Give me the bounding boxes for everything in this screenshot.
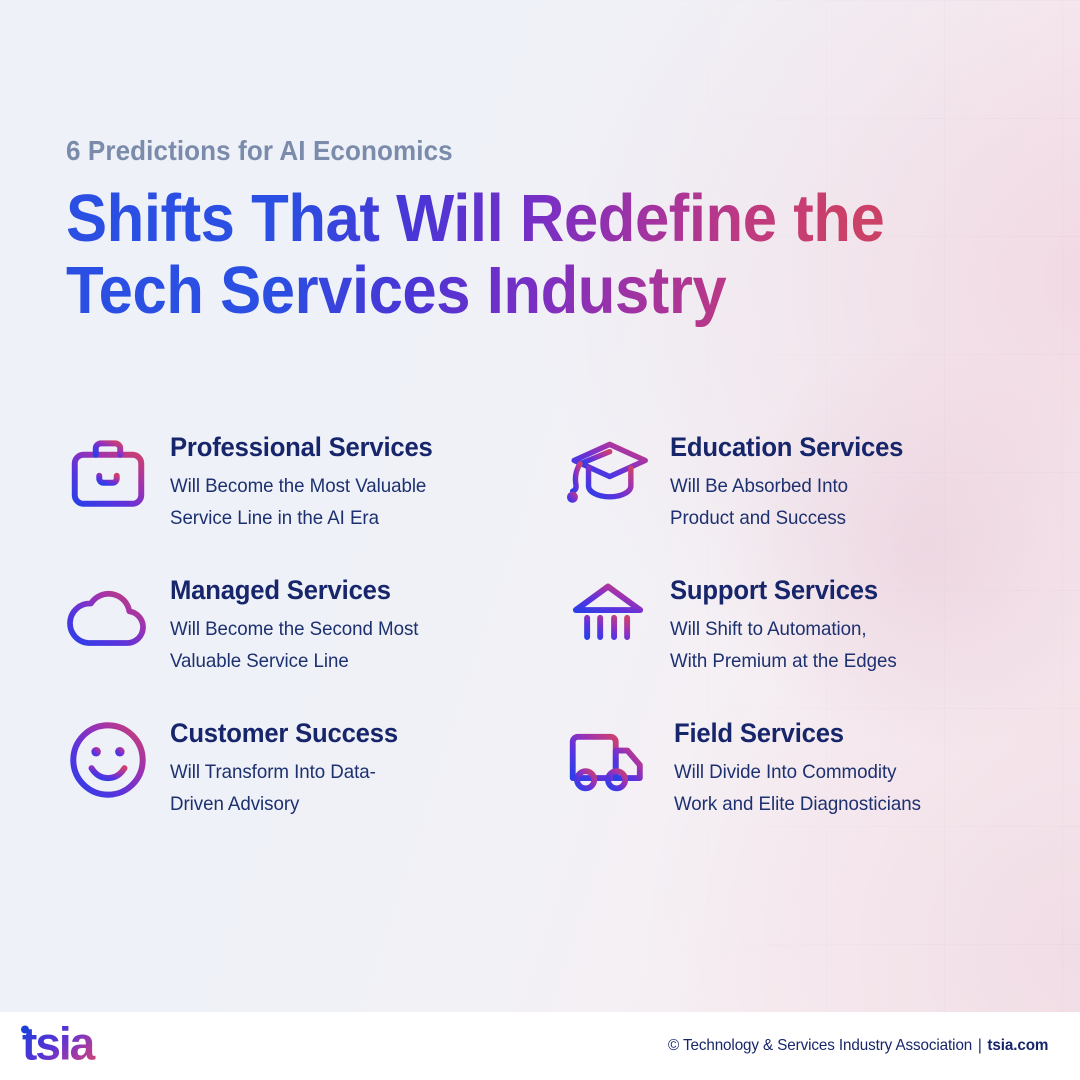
prediction-title: Support Services	[670, 575, 894, 605]
footer-separator: |	[972, 1037, 987, 1054]
cloud-icon	[62, 571, 154, 663]
bank-icon	[562, 571, 654, 663]
smiley-face-icon	[62, 714, 154, 806]
prediction-title: Managed Services	[170, 575, 416, 605]
tsia-logo-dot	[21, 1026, 29, 1034]
prediction-description: Will Become the Second Most Valuable Ser…	[170, 614, 418, 677]
footer: tsia © Technology & Services Industry As…	[0, 1012, 1080, 1080]
briefcase-icon	[62, 428, 154, 520]
prediction-body: Education Services Will Be Absorbed Into…	[654, 424, 916, 534]
eyebrow-text: 6 Predictions for AI Economics	[66, 136, 903, 167]
prediction-body: Customer Success Will Transform Into Dat…	[154, 710, 410, 820]
prediction-title: Customer Success	[170, 718, 398, 748]
predictions-grid: Professional Services Will Become the Mo…	[62, 424, 1028, 853]
page-title: Shifts That Will Redefine the Tech Servi…	[66, 183, 894, 328]
prediction-title: Professional Services	[170, 432, 433, 462]
footer-website-link[interactable]: tsia.com	[987, 1037, 1048, 1054]
infographic-canvas: 6 Predictions for AI Economics Shifts Th…	[0, 0, 1080, 1080]
prediction-item-education-services: Education Services Will Be Absorbed Into…	[562, 424, 1028, 567]
prediction-title: Field Services	[674, 718, 918, 748]
prediction-description: Will Divide Into Commodity Work and Elit…	[674, 757, 921, 820]
prediction-item-support-services: Support Services Will Shift to Automatio…	[562, 567, 1028, 710]
header: 6 Predictions for AI Economics Shifts Th…	[66, 136, 966, 328]
prediction-item-customer-success: Customer Success Will Transform Into Dat…	[62, 710, 562, 853]
prediction-description: Will Become the Most Valuable Service Li…	[170, 471, 435, 534]
prediction-item-managed-services: Managed Services Will Become the Second …	[62, 567, 562, 710]
prediction-body: Support Services Will Shift to Automatio…	[654, 567, 906, 677]
footer-attribution: © Technology & Services Industry Associa…	[668, 1037, 1048, 1055]
prediction-item-field-services: Field Services Will Divide Into Commodit…	[562, 710, 1028, 853]
prediction-body: Managed Services Will Become the Second …	[154, 567, 429, 677]
prediction-description: Will Shift to Automation, With Premium a…	[670, 614, 897, 677]
graduation-cap-icon	[562, 428, 654, 520]
tsia-logo[interactable]: tsia	[14, 1018, 126, 1075]
prediction-body: Field Services Will Divide Into Commodit…	[654, 710, 931, 820]
tsia-logo-wordmark: tsia	[22, 1018, 96, 1070]
prediction-description: Will Transform Into Data- Driven Advisor…	[170, 757, 400, 820]
prediction-body: Professional Services Will Become the Mo…	[154, 424, 446, 534]
footer-copyright: © Technology & Services Industry Associa…	[668, 1037, 972, 1054]
prediction-description: Will Be Absorbed Into Product and Succes…	[670, 471, 906, 534]
prediction-item-professional-services: Professional Services Will Become the Mo…	[62, 424, 562, 567]
delivery-truck-icon	[562, 714, 654, 806]
prediction-title: Education Services	[670, 432, 903, 462]
